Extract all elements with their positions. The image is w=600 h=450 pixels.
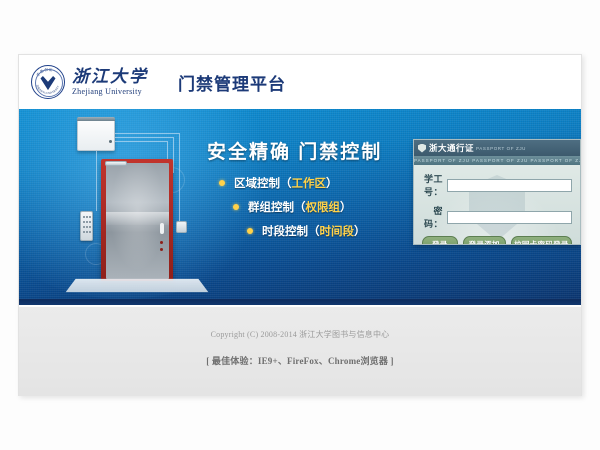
feature-tail: ） xyxy=(354,223,366,239)
controller-box-icon xyxy=(77,119,115,151)
campus-card-login-button[interactable]: 校园卡密码登录 xyxy=(511,236,572,245)
field-row-student-id: 学工号： xyxy=(422,172,572,198)
svg-text:ZHEJIANG UNIVERSITY: ZHEJIANG UNIVERSITY xyxy=(35,84,60,95)
site-header: 求 是 创 新 ZHEJIANG UNIVERSITY 浙江大学 Zhejian… xyxy=(19,55,581,109)
card-reader-keypad-icon xyxy=(80,211,93,241)
emblem-ring-text: 求 是 创 新 ZHEJIANG UNIVERSITY xyxy=(32,66,64,98)
access-control-illustration xyxy=(63,115,213,295)
door-lock-indicator-icon xyxy=(160,241,163,244)
login-panel-subtitle: PASSPORT OF ZJU xyxy=(476,146,526,151)
wire xyxy=(115,137,173,138)
university-name-en: Zhejiang University xyxy=(72,87,148,96)
field-row-password: 密 码： xyxy=(422,204,572,230)
student-id-input[interactable] xyxy=(447,179,572,192)
hero-banner: 安全精确 门禁控制 区域控制（ 工作区 ） 群组控制（ 权限组 ） 时段控制（ xyxy=(19,109,581,305)
feature-tail: ） xyxy=(340,199,352,215)
university-name-cn: 浙江大学 xyxy=(72,68,148,86)
feature-label: 时段控制（ xyxy=(262,223,320,239)
controller-led-icon xyxy=(109,140,112,143)
university-name: 浙江大学 Zhejiang University xyxy=(72,68,148,96)
wire xyxy=(115,133,179,134)
shield-icon xyxy=(418,144,426,153)
login-panel-header: 浙大通行证 PASSPORT OF ZJU xyxy=(414,140,580,156)
wire xyxy=(96,151,97,211)
door-lock-indicator-icon xyxy=(160,248,163,251)
login-form: 学工号： 密 码： 登录 登录添加 校园卡密码登录 xyxy=(414,165,580,245)
door-frame xyxy=(101,159,173,281)
login-button[interactable]: 登录 xyxy=(422,236,458,245)
feature-highlight: 权限组 xyxy=(306,199,341,215)
wire xyxy=(179,133,180,221)
login-button-row: 登录 登录添加 校园卡密码登录 xyxy=(422,236,572,245)
feature-item: 时段控制（ 时间段 ） xyxy=(247,223,366,239)
passport-strip: PASSPORT OF ZJU PASSPORT OF ZJU PASSPORT… xyxy=(414,156,580,165)
student-id-label: 学工号： xyxy=(422,172,443,198)
copyright-text: Copyright (C) 2008-2014 浙江大学图书与信息中心 xyxy=(211,329,390,340)
floor-plate xyxy=(66,279,209,292)
feature-list: 区域控制（ 工作区 ） 群组控制（ 权限组 ） 时段控制（ 时间段 ） xyxy=(219,175,366,247)
door-leaf xyxy=(106,163,169,279)
login-panel-title: 浙大通行证 xyxy=(429,142,474,154)
content-card: 求 是 创 新 ZHEJIANG UNIVERSITY 浙江大学 Zhejian… xyxy=(18,54,582,396)
password-input[interactable] xyxy=(447,211,572,224)
password-label: 密 码： xyxy=(422,204,443,230)
bullet-dot-icon xyxy=(233,204,239,210)
wire xyxy=(173,137,174,173)
feature-highlight: 时间段 xyxy=(320,223,355,239)
university-logo[interactable]: 求 是 创 新 ZHEJIANG UNIVERSITY 浙江大学 Zhejian… xyxy=(31,65,148,99)
banner-slogan: 安全精确 门禁控制 xyxy=(207,137,382,164)
browser-compatibility-text: [ 最佳体验：IE9+、FireFox、Chrome浏览器 ] xyxy=(206,354,393,367)
zju-emblem-icon: 求 是 创 新 ZHEJIANG UNIVERSITY xyxy=(31,65,65,99)
bullet-dot-icon xyxy=(219,180,225,186)
wire xyxy=(167,141,168,161)
feature-label: 群组控制（ xyxy=(248,199,306,215)
feature-label: 区域控制（ xyxy=(234,175,292,191)
page-root: 求 是 创 新 ZHEJIANG UNIVERSITY 浙江大学 Zhejian… xyxy=(0,0,600,450)
page-title: 门禁管理平台 xyxy=(178,70,286,95)
feature-item: 群组控制（ 权限组 ） xyxy=(233,199,366,215)
svg-text:求 是 创 新: 求 是 创 新 xyxy=(35,67,54,78)
login-panel: 浙大通行证 PASSPORT OF ZJU PASSPORT OF ZJU PA… xyxy=(413,139,581,245)
login-add-button[interactable]: 登录添加 xyxy=(463,236,506,245)
bullet-dot-icon xyxy=(247,228,253,234)
wall-reader-icon xyxy=(176,221,187,233)
site-footer: Copyright (C) 2008-2014 浙江大学图书与信息中心 [ 最佳… xyxy=(19,305,581,396)
feature-tail: ） xyxy=(326,175,338,191)
wire xyxy=(115,141,167,142)
emblem-bird-shape xyxy=(41,75,56,90)
feature-highlight: 工作区 xyxy=(292,175,327,191)
door-handle-icon xyxy=(160,223,164,234)
feature-item: 区域控制（ 工作区 ） xyxy=(219,175,366,191)
door-closer-icon xyxy=(105,161,127,166)
